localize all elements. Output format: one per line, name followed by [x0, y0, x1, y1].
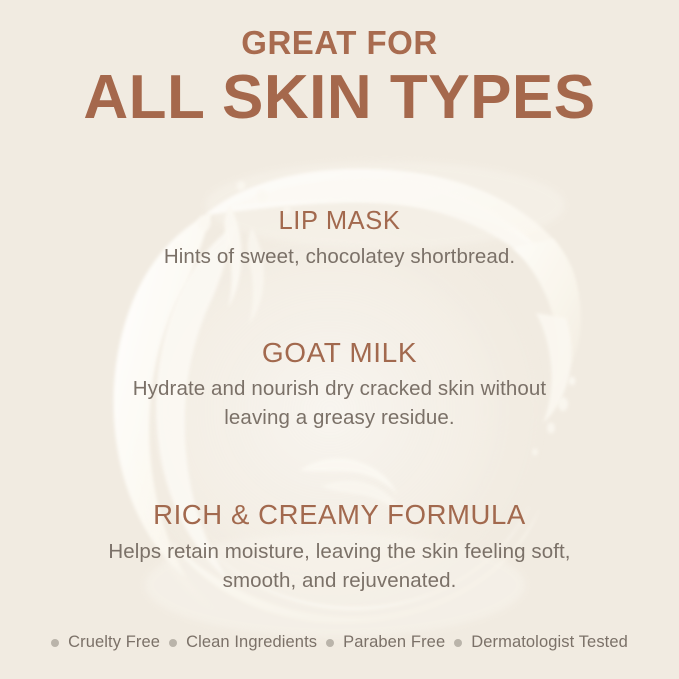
product-claims-row: Cruelty Free Clean Ingredients Paraben F…	[0, 633, 679, 652]
headline-line-2: ALL SKIN TYPES	[0, 63, 679, 132]
feature-description: Hydrate and nourish dry cracked skin wit…	[100, 374, 580, 432]
product-benefits-graphic: GREAT FOR ALL SKIN TYPES LIP MASK Hints …	[0, 0, 679, 679]
bullet-dot-icon	[326, 639, 334, 647]
feature-lip-mask: LIP MASK Hints of sweet, chocolatey shor…	[0, 207, 679, 271]
bullet-dot-icon	[51, 639, 59, 647]
feature-title: GOAT MILK	[0, 337, 679, 368]
claim-cruelty-free: Cruelty Free	[68, 633, 160, 652]
content-layer: GREAT FOR ALL SKIN TYPES LIP MASK Hints …	[0, 0, 679, 679]
headline-line-1: GREAT FOR	[0, 26, 679, 61]
page-headline: GREAT FOR ALL SKIN TYPES	[0, 26, 679, 132]
bullet-dot-icon	[454, 639, 462, 647]
feature-title: RICH & CREAMY FORMULA	[0, 500, 679, 531]
feature-rich-creamy-formula: RICH & CREAMY FORMULA Helps retain moist…	[0, 500, 679, 595]
claim-clean-ingredients: Clean Ingredients	[186, 633, 317, 652]
feature-title: LIP MASK	[0, 207, 679, 236]
feature-goat-milk: GOAT MILK Hydrate and nourish dry cracke…	[0, 337, 679, 433]
claim-dermatologist-tested: Dermatologist Tested	[471, 633, 628, 652]
feature-description: Hints of sweet, chocolatey shortbread.	[0, 242, 679, 271]
feature-description: Helps retain moisture, leaving the skin …	[105, 537, 575, 595]
bullet-dot-icon	[169, 639, 177, 647]
claim-paraben-free: Paraben Free	[343, 633, 445, 652]
